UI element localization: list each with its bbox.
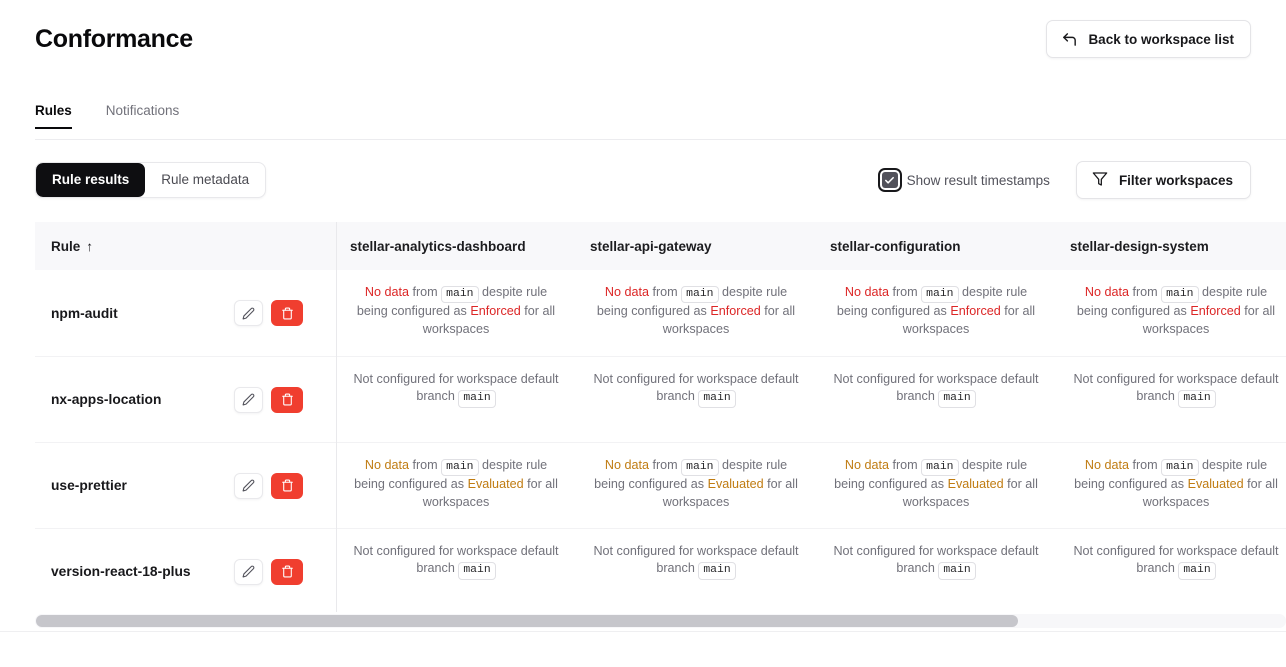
rule-name: nx-apps-location — [51, 392, 161, 407]
page-title: Conformance — [35, 27, 193, 52]
severity-text: Evaluated — [948, 477, 1004, 491]
show-result-timestamps-label: Show result timestamps — [907, 173, 1050, 188]
table-grid: Rule ↑ stellar-analytics-dashboard stell… — [35, 222, 1286, 612]
severity-text: Evaluated — [468, 477, 524, 491]
severity-text: Enforced — [950, 304, 1000, 318]
no-data-text: No data — [845, 285, 889, 299]
row-actions — [234, 473, 303, 499]
result-cell: No data from main despite rule being con… — [576, 442, 816, 528]
branch-badge: main — [458, 390, 495, 407]
branch-badge: main — [441, 286, 478, 303]
rule-name: npm-audit — [51, 306, 118, 321]
branch-badge: main — [1161, 459, 1198, 476]
back-button-label: Back to workspace list — [1088, 32, 1234, 47]
tab-notifications[interactable]: Notifications — [92, 104, 194, 129]
from-text: from — [409, 458, 441, 472]
table-row: use-prettier — [35, 442, 336, 528]
not-configured-text: Not configured for workspace default bra… — [593, 372, 798, 403]
result-cell: Not configured for workspace default bra… — [1056, 356, 1286, 442]
result-cell: No data from main despite rule being con… — [816, 270, 1056, 356]
from-text: from — [1129, 458, 1161, 472]
rule-name: version-react-18-plus — [51, 564, 191, 579]
result-cell: No data from main despite rule being con… — [1056, 442, 1286, 528]
result-cell: No data from main despite rule being con… — [336, 442, 576, 528]
severity-text: Enforced — [710, 304, 760, 318]
result-cell: No data from main despite rule being con… — [336, 270, 576, 356]
branch-badge: main — [1178, 390, 1215, 407]
page-header: Conformance Back to workspace list — [0, 0, 1286, 78]
result-cell: No data from main despite rule being con… — [816, 442, 1056, 528]
no-data-text: No data — [365, 285, 409, 299]
not-configured-text: Not configured for workspace default bra… — [1073, 544, 1278, 575]
table-row: npm-audit — [35, 270, 336, 356]
filter-workspaces-label: Filter workspaces — [1119, 173, 1233, 188]
rule-column-divider — [336, 222, 337, 612]
back-arrow-icon — [1061, 31, 1078, 48]
table-toolbar: Rule results Rule metadata Show result t… — [0, 161, 1286, 199]
from-text: from — [889, 458, 921, 472]
sort-ascending-icon: ↑ — [86, 239, 93, 254]
trash-icon[interactable] — [271, 473, 303, 499]
table-row: version-react-18-plus — [35, 528, 336, 612]
from-text: from — [1129, 285, 1161, 299]
pencil-icon[interactable] — [234, 559, 263, 585]
branch-badge: main — [1178, 562, 1215, 579]
bottom-divider — [0, 631, 1286, 632]
show-result-timestamps-checkbox[interactable]: Show result timestamps — [882, 172, 1050, 188]
no-data-text: No data — [605, 285, 649, 299]
result-cell: Not configured for workspace default bra… — [816, 528, 1056, 612]
table-row: nx-apps-location — [35, 356, 336, 442]
branch-badge: main — [698, 390, 735, 407]
rule-name: use-prettier — [51, 478, 127, 493]
segment-rule-metadata[interactable]: Rule metadata — [145, 163, 265, 197]
branch-badge: main — [938, 562, 975, 579]
from-text: from — [649, 285, 681, 299]
branch-badge: main — [1161, 286, 1198, 303]
severity-text: Enforced — [470, 304, 520, 318]
column-header-rule[interactable]: Rule ↑ — [35, 222, 336, 270]
not-configured-text: Not configured for workspace default bra… — [833, 544, 1038, 575]
horizontal-scrollbar-track[interactable] — [35, 614, 1286, 628]
column-header-rule-label: Rule — [51, 239, 80, 254]
from-text: from — [649, 458, 681, 472]
funnel-icon — [1092, 171, 1108, 190]
from-text: from — [889, 285, 921, 299]
result-cell: Not configured for workspace default bra… — [576, 528, 816, 612]
filter-workspaces-button[interactable]: Filter workspaces — [1076, 161, 1251, 199]
pencil-icon[interactable] — [234, 300, 263, 326]
no-data-text: No data — [1085, 458, 1129, 472]
pencil-icon[interactable] — [234, 473, 263, 499]
branch-badge: main — [458, 562, 495, 579]
no-data-text: No data — [605, 458, 649, 472]
from-text: from — [409, 285, 441, 299]
checkmark-icon[interactable] — [882, 172, 898, 188]
result-cell: Not configured for workspace default bra… — [816, 356, 1056, 442]
row-actions — [234, 559, 303, 585]
column-header-workspace-0[interactable]: stellar-analytics-dashboard — [336, 222, 576, 270]
branch-badge: main — [681, 286, 718, 303]
no-data-text: No data — [845, 458, 889, 472]
tab-rules[interactable]: Rules — [35, 104, 86, 129]
toolbar-right-group: Show result timestamps Filter workspaces — [882, 161, 1251, 199]
branch-badge: main — [681, 459, 718, 476]
tab-bar: Rules Notifications — [0, 104, 1286, 140]
severity-text: Enforced — [1190, 304, 1240, 318]
pencil-icon[interactable] — [234, 387, 263, 413]
severity-text: Evaluated — [1188, 477, 1244, 491]
conformance-page: Conformance Back to workspace list Rules… — [0, 0, 1286, 667]
result-cell: Not configured for workspace default bra… — [336, 528, 576, 612]
branch-badge: main — [441, 459, 478, 476]
result-cell: No data from main despite rule being con… — [576, 270, 816, 356]
no-data-text: No data — [1085, 285, 1129, 299]
not-configured-text: Not configured for workspace default bra… — [593, 544, 798, 575]
horizontal-scrollbar-thumb[interactable] — [36, 615, 1018, 627]
branch-badge: main — [921, 459, 958, 476]
trash-icon[interactable] — [271, 559, 303, 585]
severity-text: Evaluated — [708, 477, 764, 491]
result-cell: Not configured for workspace default bra… — [336, 356, 576, 442]
column-header-workspace-3[interactable]: stellar-design-system — [1056, 222, 1286, 270]
conformance-table[interactable]: Rule ↑ stellar-analytics-dashboard stell… — [35, 222, 1286, 612]
not-configured-text: Not configured for workspace default bra… — [353, 372, 558, 403]
row-actions — [234, 387, 303, 413]
column-header-workspace-1[interactable]: stellar-api-gateway — [576, 222, 816, 270]
branch-badge: main — [938, 390, 975, 407]
trash-icon[interactable] — [271, 300, 303, 326]
not-configured-text: Not configured for workspace default bra… — [353, 544, 558, 575]
back-to-workspace-list-button[interactable]: Back to workspace list — [1046, 20, 1251, 58]
branch-badge: main — [921, 286, 958, 303]
row-actions — [234, 300, 303, 326]
no-data-text: No data — [365, 458, 409, 472]
result-cell: No data from main despite rule being con… — [1056, 270, 1286, 356]
not-configured-text: Not configured for workspace default bra… — [1073, 372, 1278, 403]
result-cell: Not configured for workspace default bra… — [576, 356, 816, 442]
branch-badge: main — [698, 562, 735, 579]
trash-icon[interactable] — [271, 387, 303, 413]
segment-rule-results[interactable]: Rule results — [36, 163, 145, 197]
view-mode-segmented-control: Rule results Rule metadata — [35, 162, 266, 198]
not-configured-text: Not configured for workspace default bra… — [833, 372, 1038, 403]
column-header-workspace-2[interactable]: stellar-configuration — [816, 222, 1056, 270]
result-cell: Not configured for workspace default bra… — [1056, 528, 1286, 612]
